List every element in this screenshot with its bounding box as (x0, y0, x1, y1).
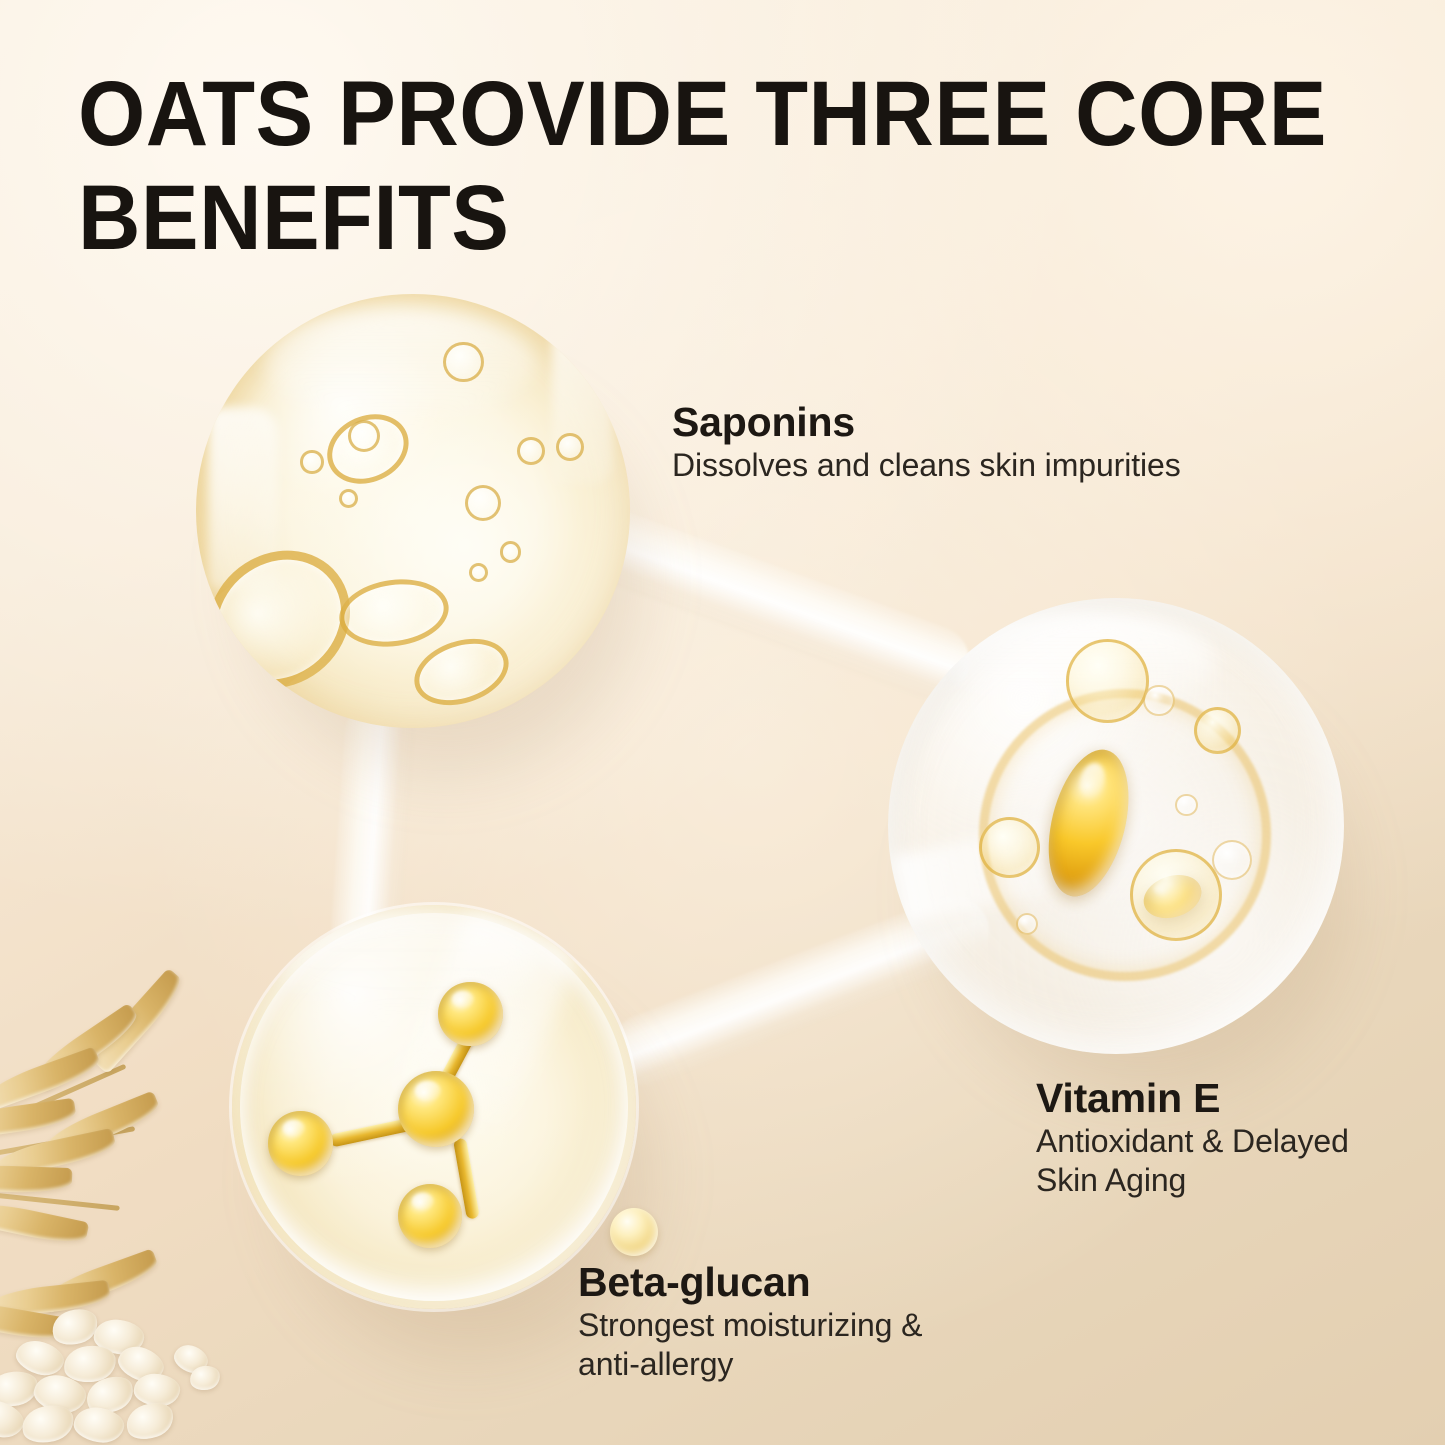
benefit-description: Dissolves and cleans skin impurities (672, 446, 1181, 485)
benefit-description-line-1: Strongest moisturizing & (578, 1306, 922, 1345)
benefit-label-vitamin-e: Vitamin E Antioxidant & Delayed Skin Agi… (1036, 1074, 1349, 1200)
molecule-atom-left (268, 1111, 333, 1176)
gold-bubble (1194, 707, 1241, 754)
air-bubble (500, 541, 522, 563)
gold-bubble (1130, 849, 1223, 942)
specular-highlight-top (265, 307, 534, 420)
molecule-atom-center (398, 1071, 475, 1148)
air-bubble (1212, 840, 1252, 880)
gold-bubble (1066, 639, 1150, 723)
molecule-structure-icon (232, 905, 636, 1309)
page-title-line-1: OATS PROVIDE THREE CORE (78, 62, 1300, 166)
gold-bubble (979, 817, 1040, 878)
air-bubble (517, 437, 545, 465)
oil-droplet-icon (610, 1208, 658, 1256)
benefit-title: Saponins (672, 398, 1181, 446)
vitamine-sphere-icon (888, 598, 1344, 1054)
benefit-description-line-2: Skin Aging (1036, 1161, 1349, 1200)
molecule-atom-bottom (398, 1184, 463, 1249)
air-bubble (469, 563, 488, 582)
oil-ring-bubble (406, 628, 517, 717)
specular-highlight-right (552, 329, 613, 485)
oil-ring-bubble (335, 573, 453, 654)
air-bubble (556, 433, 584, 461)
air-bubble (1143, 685, 1174, 716)
benefit-description-line-1: Antioxidant & Delayed (1036, 1122, 1349, 1161)
benefit-label-saponins: Saponins Dissolves and cleans skin impur… (672, 398, 1181, 485)
benefit-description-line-2: anti-allergy (578, 1345, 922, 1384)
benefit-label-beta-glucan: Beta-glucan Strongest moisturizing & ant… (578, 1258, 922, 1384)
molecule-atom-top (438, 982, 503, 1047)
air-bubble (1175, 794, 1197, 816)
air-bubble (339, 489, 358, 508)
oat-flake (71, 1404, 126, 1445)
oat-decoration (0, 990, 254, 1445)
oat-spikelet (0, 1164, 72, 1194)
air-bubble (348, 420, 380, 452)
betaglucan-sphere-icon (232, 905, 636, 1309)
page-title-line-2: BENEFITS (78, 166, 1300, 270)
benefit-title: Vitamin E (1036, 1074, 1349, 1122)
benefit-title: Beta-glucan (578, 1258, 922, 1306)
air-bubble (1016, 913, 1038, 935)
page-title: OATS PROVIDE THREE CORE BENEFITS (78, 62, 1378, 270)
air-bubble (465, 485, 501, 521)
air-bubble (300, 450, 323, 473)
infographic-poster: OATS PROVIDE THREE CORE BENEFITS (0, 0, 1445, 1445)
oat-flake (122, 1397, 178, 1444)
saponins-sphere-icon (196, 294, 630, 728)
